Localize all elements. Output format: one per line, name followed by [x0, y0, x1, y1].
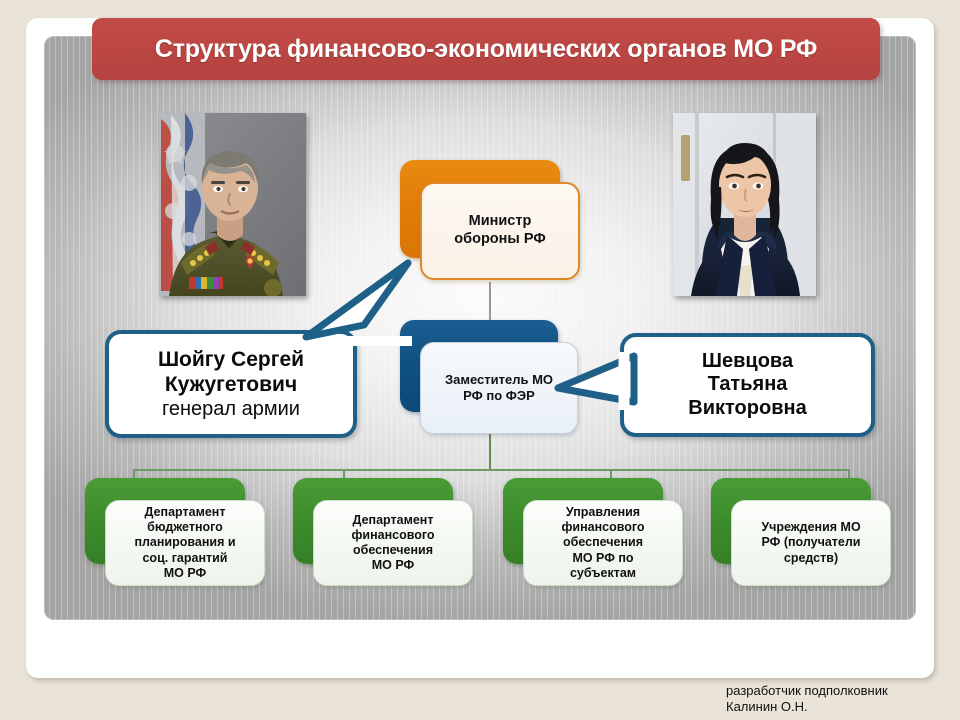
callout-deputy-name[interactable]: Шевцова Татьяна Викторовна [620, 333, 875, 437]
node-minister-of-defence[interactable]: Министр обороны РФ [400, 160, 560, 258]
portrait-illustration-right [673, 113, 816, 296]
callout-left-name2: Кужугетович [165, 373, 297, 398]
node-g2-line1: Департамент [351, 513, 434, 528]
connector-deputy-to-bus [489, 430, 491, 470]
node-g3-line4: МО РФ по [561, 551, 644, 566]
node-deputy-line1: Заместитель МО [445, 372, 553, 388]
footer-line2: Калинин О.Н. [726, 699, 954, 715]
footer-credits: разработчик подполковник Калинин О.Н. [726, 683, 954, 715]
node-g4-line1: Учреждения МО [761, 520, 860, 535]
node-g3-line2: финансового [561, 520, 644, 535]
page-title: Структура финансово-экономических органо… [155, 35, 817, 64]
node-g3-body: Управления финансового обеспечения МО РФ… [523, 500, 683, 586]
node-g1-line2: бюджетного [134, 520, 235, 535]
callout-right-name3: Викторовна [688, 397, 806, 421]
callout-left-name1: Шойгу Сергей [158, 348, 304, 373]
node-department-budget-planning[interactable]: Департамент бюджетного планирования и со… [85, 478, 245, 564]
node-g3-line3: обеспечения [561, 535, 644, 550]
photo-minister [159, 113, 306, 296]
slide-root: Структура финансово-экономических органо… [0, 0, 960, 720]
callout-left-rank: генерал армии [162, 398, 300, 422]
node-deputy-line2: РФ по ФЭР [445, 388, 553, 404]
node-g4-line3: средств) [761, 551, 860, 566]
slide-title-bar: Структура финансово-экономических органо… [92, 18, 880, 80]
callout-right-name2: Татьяна [708, 373, 788, 397]
portrait-illustration-left [159, 113, 306, 296]
node-minister-line1: Министр [454, 213, 545, 231]
node-g2-line3: обеспечения [351, 543, 434, 558]
node-g4-line2: РФ (получатели [761, 535, 860, 550]
node-g1-line1: Департамент [134, 505, 235, 520]
node-g4-body: Учреждения МО РФ (получатели средств) [731, 500, 891, 586]
callout-right-name1: Шевцова [702, 350, 793, 374]
node-regional-financial-directorates[interactable]: Управления финансового обеспечения МО РФ… [503, 478, 663, 564]
node-g1-line3: планирования и [134, 535, 235, 550]
photo-deputy [673, 113, 816, 296]
node-g2-line4: МО РФ [351, 558, 434, 573]
node-minister-line2: обороны РФ [454, 231, 545, 249]
connector-horizontal-bus [133, 469, 849, 471]
node-department-financial-support[interactable]: Департамент финансового обеспечения МО Р… [293, 478, 453, 564]
node-g3-line5: субъектам [561, 566, 644, 581]
node-g1-body: Департамент бюджетного планирования и со… [105, 500, 265, 586]
node-institutions-fund-recipients[interactable]: Учреждения МО РФ (получатели средств) [711, 478, 871, 564]
node-g1-line4: соц. гарантий [134, 551, 235, 566]
footer-line1: разработчик подполковник [726, 683, 954, 699]
node-g2-body: Департамент финансового обеспечения МО Р… [313, 500, 473, 586]
callout-tail-right [548, 340, 658, 436]
node-g1-line5: МО РФ [134, 566, 235, 581]
node-g2-line2: финансового [351, 528, 434, 543]
node-g3-line1: Управления [561, 505, 644, 520]
callout-tail-left [300, 255, 480, 365]
